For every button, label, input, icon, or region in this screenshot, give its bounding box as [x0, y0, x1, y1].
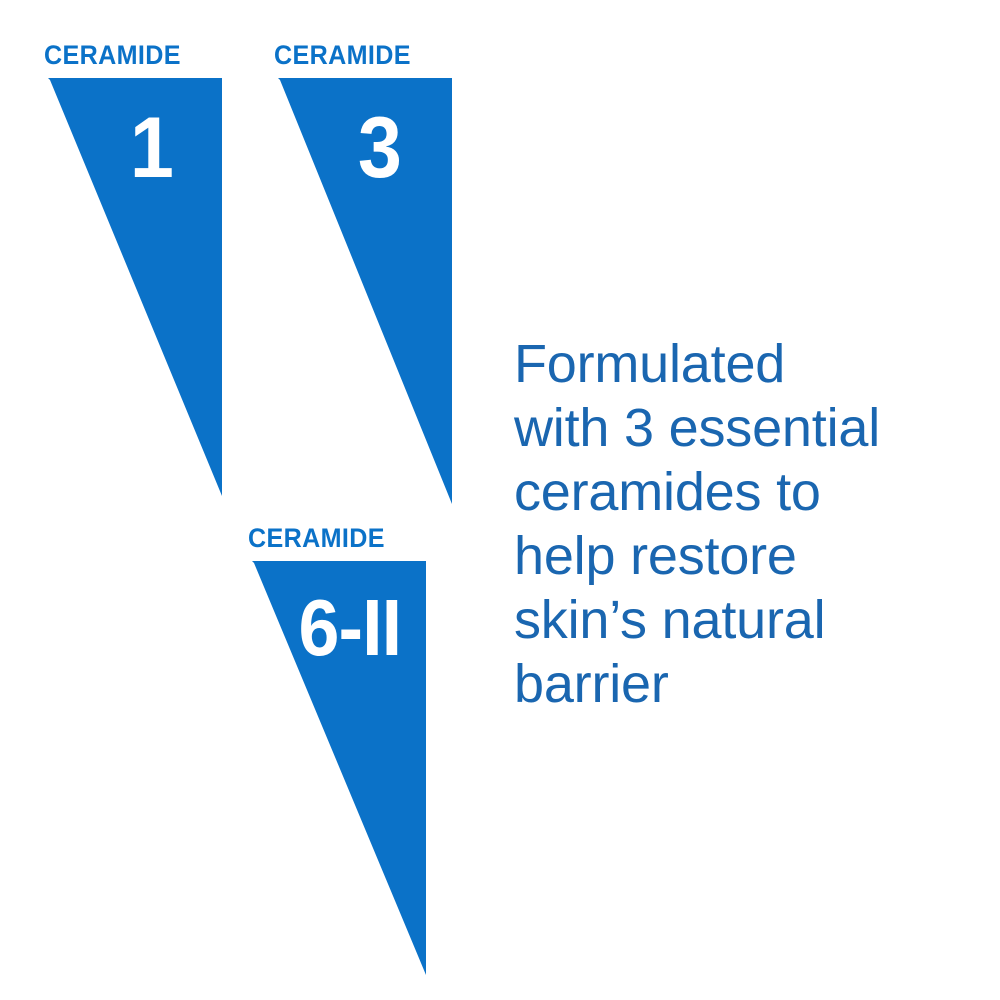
copy-line: barrier	[514, 652, 954, 716]
marketing-graphic: CERAMIDE 1 CERAMIDE 3 CERAMIDE 6-II Form…	[0, 0, 1000, 1000]
copy-line: skin’s natural	[514, 588, 954, 652]
ceramide-3-number: 3	[358, 105, 402, 191]
ceramide-1-number: 1	[130, 105, 174, 191]
ceramide-6-ii-number: 6-II	[298, 588, 401, 668]
copy-line: Formulated	[514, 332, 954, 396]
copy-line: ceramides to	[514, 460, 954, 524]
ceramide-6-ii-label: CERAMIDE	[248, 525, 385, 552]
ceramide-1-label: CERAMIDE	[44, 42, 181, 69]
copy-line: help restore	[514, 524, 954, 588]
ceramide-3-label: CERAMIDE	[274, 42, 411, 69]
copy-line: with 3 essential	[514, 396, 954, 460]
marketing-copy: Formulated with 3 essential ceramides to…	[514, 332, 954, 716]
